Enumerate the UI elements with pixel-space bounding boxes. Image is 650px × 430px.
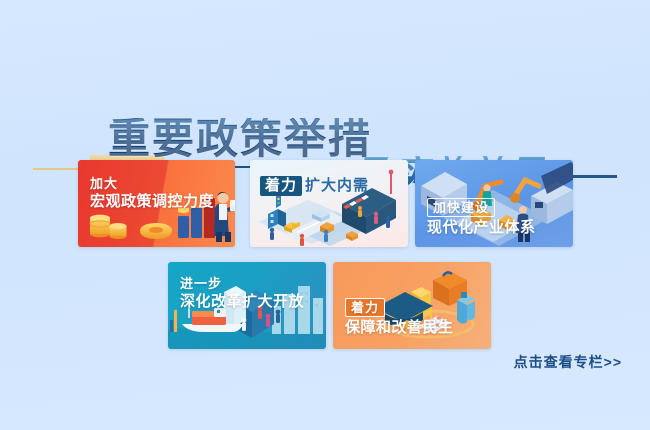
policy-banner: 重要政策举措 及实施效果 [0,0,650,430]
policy-card-livelihood-label: 着力 保障和改善民生 [345,298,454,337]
page-title-line1: 重要政策举措 [108,118,372,160]
card5-line2: 保障和改善民生 [345,319,454,337]
view-column-link[interactable]: 点击查看专栏>> [514,352,622,372]
card4-line1: 进一步 [180,276,304,291]
card2-line2: 扩大内需 [305,177,369,194]
policy-card-expand-demand[interactable]: 着力扩大内需 [250,160,408,247]
policy-card-macro-regulation-label: 加大 宏观政策调控力度 [90,176,214,211]
card3-line2: 现代化产业体系 [427,219,536,237]
policy-card-reform-opening-label: 进一步 深化改革扩大开放 [180,276,304,311]
policy-card-livelihood[interactable]: 着力 保障和改善民生 [333,262,491,349]
card4-line2: 深化改革扩大开放 [180,293,304,311]
policy-card-reform-opening[interactable]: 进一步 深化改革扩大开放 [168,262,326,349]
policy-card-macro-regulation[interactable]: 加大 宏观政策调控力度 [78,160,235,247]
card5-line1: 着力 [345,298,385,317]
isometric-city-commerce-icon [250,160,408,247]
title-block: 重要政策举措 及实施效果 [0,56,650,146]
policy-card-modern-industry-label: 加快建设 现代化产业体系 [427,198,536,237]
card1-line2: 宏观政策调控力度 [90,193,214,211]
card1-line1: 加大 [90,176,214,191]
policy-card-modern-industry[interactable]: 加快建设 现代化产业体系 [415,160,573,247]
card3-line1: 加快建设 [427,198,495,217]
card2-line1: 着力 [260,176,302,196]
policy-card-expand-demand-label: 着力扩大内需 [260,176,369,196]
